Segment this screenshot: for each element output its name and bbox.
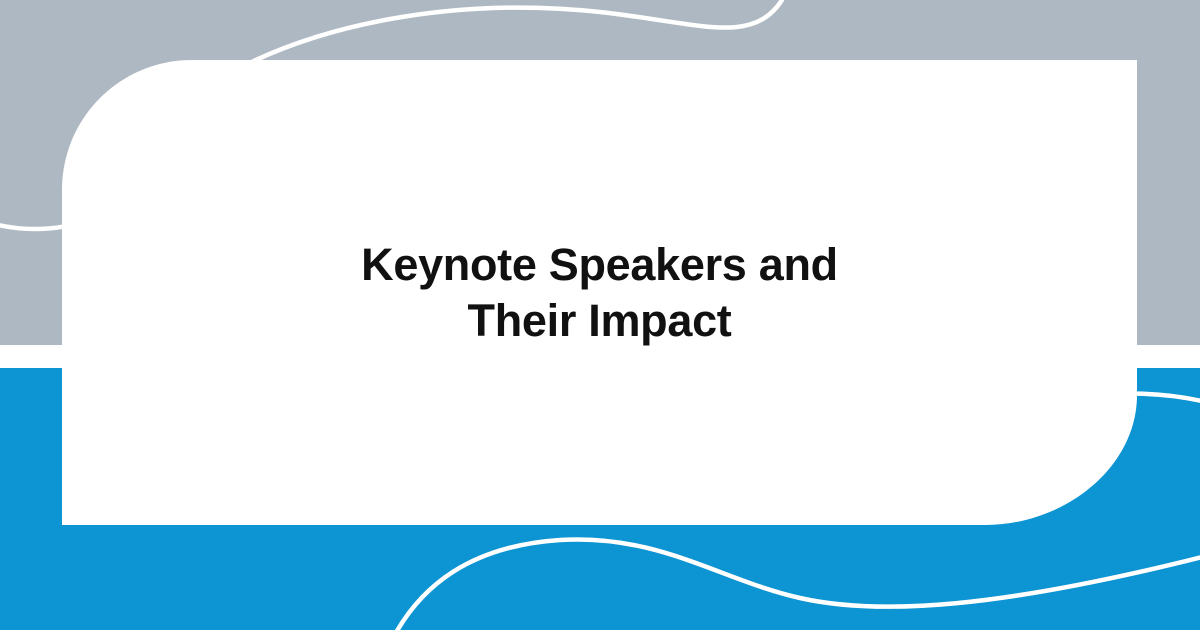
- content-card: [62, 60, 1137, 525]
- background-artwork: [0, 0, 1200, 630]
- social-card-canvas: Keynote Speakers and Their Impact: [0, 0, 1200, 630]
